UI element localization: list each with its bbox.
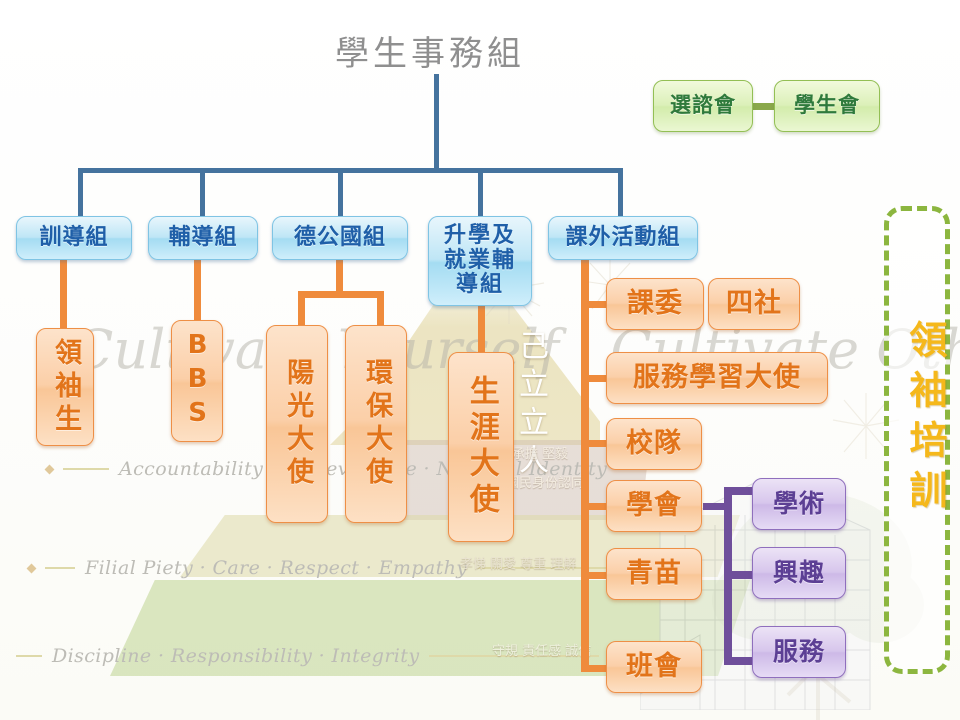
watermark-diamond-icon-2	[27, 563, 37, 573]
node-class-association[interactable]: 班會	[606, 641, 702, 693]
page-title: 學生事務組	[0, 26, 860, 75]
connector-dept-drop-3	[338, 168, 343, 216]
watermark-rule-1	[63, 468, 109, 470]
connector-moral-drop-right	[377, 291, 384, 325]
node-four-houses[interactable]: 四社	[708, 278, 800, 330]
connector-election-to-union	[750, 103, 776, 110]
connector-career-to-ambassador	[478, 305, 485, 353]
connector-dept-drop-4	[478, 168, 483, 216]
connector-discipline-to-prefect	[60, 260, 67, 330]
node-academic[interactable]: 學術	[752, 478, 846, 530]
connector-moral-bus	[298, 291, 384, 298]
connector-root-bus	[78, 168, 623, 173]
leadership-training-label: 領袖培訓	[898, 320, 953, 570]
node-curriculum-committee[interactable]: 課委	[606, 278, 704, 330]
node-service[interactable]: 服務	[752, 626, 846, 678]
node-dept-moral-civic-national[interactable]: 德公國組	[272, 216, 408, 260]
node-label-line-3: 導組	[456, 273, 504, 298]
watermark-chinese-small-3: 孝悌 關愛 尊重 理解	[460, 553, 576, 572]
watermark-chinese-small-1: 承擔 堅毅	[512, 443, 568, 462]
watermark-text-2: Filial Piety · Care · Respect · Empathy	[85, 557, 467, 579]
watermark-text-3: Discipline · Responsibility · Integrity	[52, 645, 419, 667]
connector-guidance-to-bbs	[194, 260, 201, 322]
connector-purple-branch-service	[724, 657, 754, 665]
connector-purple-branch-interest	[724, 571, 754, 579]
node-prefect[interactable]: 領袖生	[36, 328, 94, 446]
connector-moral-drop-left	[298, 291, 305, 325]
connector-extracurricular-spine	[581, 260, 589, 672]
node-green-ambassador[interactable]: 環保大使	[345, 325, 407, 523]
node-school-team[interactable]: 校隊	[606, 418, 702, 470]
watermark-rule-3	[16, 655, 42, 657]
node-green-seedling[interactable]: 青苗	[606, 548, 702, 600]
org-chart-canvas: Cultivate Yourself · Cultivate Others Ac…	[0, 0, 960, 720]
connector-dept-drop-2	[200, 168, 205, 216]
watermark-rule-2	[45, 567, 75, 569]
node-service-learning-ambassador[interactable]: 服務學習大使	[606, 352, 828, 404]
node-election-committee[interactable]: 選諮會	[653, 80, 753, 132]
connector-purple-branch-academic	[724, 487, 754, 495]
node-dept-discipline[interactable]: 訓導組	[16, 216, 132, 260]
connector-dept-drop-5	[618, 168, 623, 216]
node-dept-extracurricular[interactable]: 課外活動組	[548, 216, 698, 260]
watermark-chinese-large: 己立立人	[508, 330, 552, 490]
node-label-line-2: 就業輔	[444, 249, 516, 274]
node-career-ambassador[interactable]: 生涯大使	[448, 352, 514, 542]
node-bbs[interactable]: BBS	[171, 320, 223, 442]
node-sunshine-ambassador[interactable]: 陽光大使	[266, 325, 328, 523]
connector-root-stem	[434, 74, 439, 172]
node-society[interactable]: 學會	[606, 480, 702, 532]
node-dept-further-study-career[interactable]: 升學及 就業輔 導組	[428, 216, 532, 306]
node-label-line-1: 升學及	[444, 224, 516, 249]
node-interest[interactable]: 興趣	[752, 547, 846, 599]
watermark-diamond-icon-1	[45, 464, 55, 474]
node-dept-guidance[interactable]: 輔導組	[148, 216, 258, 260]
watermark-chinese-small-4: 守規 責任感 誠信	[492, 640, 591, 659]
node-student-union[interactable]: 學生會	[774, 80, 880, 132]
connector-dept-drop-1	[78, 168, 83, 216]
watermark-chinese-small-2: 國民身份認同	[506, 472, 584, 491]
